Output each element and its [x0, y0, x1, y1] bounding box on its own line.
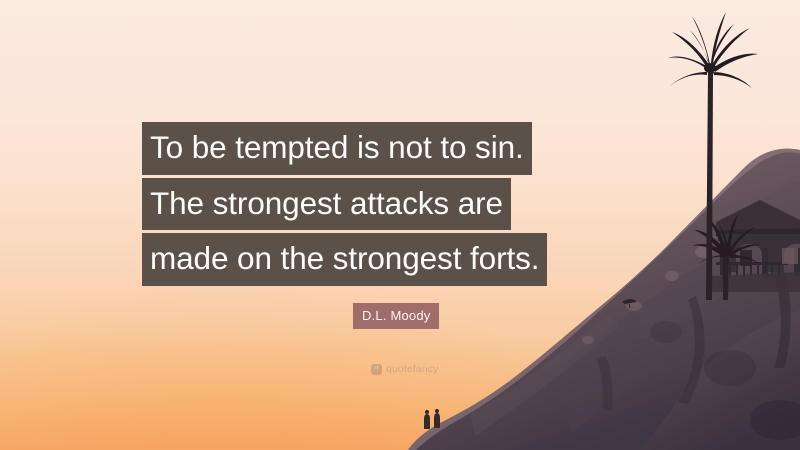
quote-line-3: made on the strongest forts.: [142, 233, 547, 286]
quote-author: D.L. Moody: [353, 303, 439, 329]
quote-line-1: To be tempted is not to sin.: [142, 122, 532, 175]
quote-image: To be tempted is not to sin. The stronge…: [0, 0, 800, 450]
watermark-label: quotefancy: [386, 364, 438, 375]
quote-badge-icon: “: [371, 364, 382, 375]
watermark: “ quotefancy: [371, 364, 438, 375]
quote-text: To be tempted is not to sin. The stronge…: [142, 122, 547, 286]
quote-line-2: The strongest attacks are: [142, 178, 511, 231]
people-silhouette: [424, 409, 440, 429]
